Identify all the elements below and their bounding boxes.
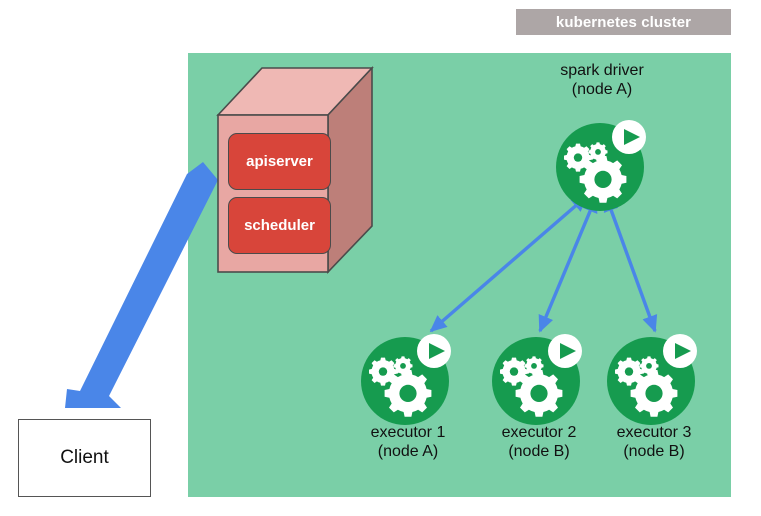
executor-2-node[interactable] <box>489 327 589 427</box>
gear-small-icon <box>394 356 413 375</box>
scheduler-module-label: scheduler <box>244 217 315 234</box>
executor-3-name: executor 3 <box>617 424 692 441</box>
control-plane-cube: apiserver scheduler <box>200 60 375 280</box>
executor-3-node[interactable] <box>604 327 704 427</box>
spark-driver-node[interactable] <box>553 113 653 213</box>
gear-small-icon <box>640 356 659 375</box>
client-label: Client <box>60 447 109 469</box>
spark-driver-name: spark driver <box>560 62 644 79</box>
gear-small-icon <box>589 142 608 161</box>
executor-1-node: (node A) <box>333 443 483 462</box>
kubernetes-cluster-banner: kubernetes cluster <box>516 9 731 35</box>
gear-medium-icon <box>615 358 643 386</box>
executor-3-node: (node B) <box>579 443 729 462</box>
kubernetes-cluster-banner-label: kubernetes cluster <box>556 14 691 31</box>
gear-medium-icon <box>500 358 528 386</box>
executor-1-label: executor 1 (node A) <box>333 424 483 462</box>
apiserver-module-label: apiserver <box>246 153 313 170</box>
executor-2-name: executor 2 <box>502 424 577 441</box>
executor-1-name: executor 1 <box>371 424 446 441</box>
diagram-canvas: kubernetes cluster spark-submit apiserve… <box>0 0 761 516</box>
executor-3-label: executor 3 (node B) <box>579 424 729 462</box>
spark-driver-node: (node A) <box>527 81 677 100</box>
apiserver-module[interactable]: apiserver <box>228 133 331 190</box>
spark-submit-arrow <box>55 160 220 410</box>
gear-medium-icon <box>369 358 397 386</box>
scheduler-module[interactable]: scheduler <box>228 197 331 254</box>
spark-driver-label: spark driver (node A) <box>527 62 677 100</box>
gear-small-icon <box>525 356 544 375</box>
gear-medium-icon <box>564 144 592 172</box>
client-box[interactable]: Client <box>18 419 151 497</box>
executor-1-node[interactable] <box>358 327 458 427</box>
